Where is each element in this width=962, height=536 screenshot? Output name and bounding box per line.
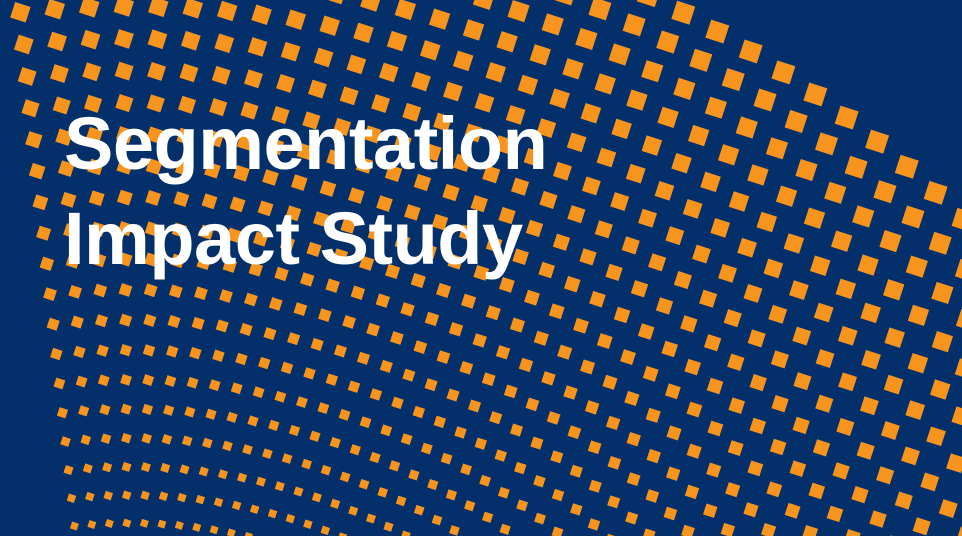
title-slide: Segmentation Impact Study [0, 0, 962, 536]
title-line-2: Impact Study [64, 191, 547, 286]
page-title: Segmentation Impact Study [64, 96, 547, 286]
title-line-1: Segmentation [64, 96, 547, 191]
